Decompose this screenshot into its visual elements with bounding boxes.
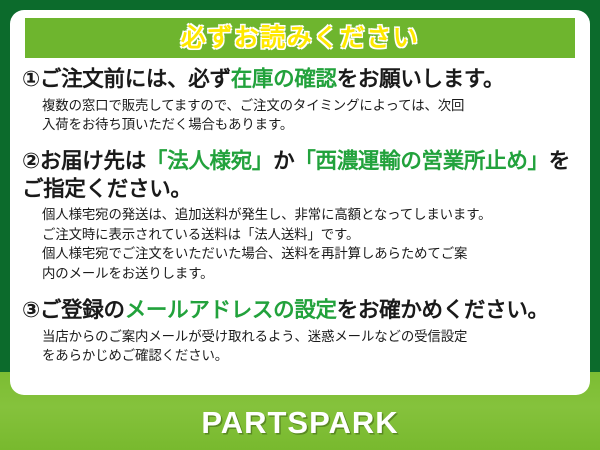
notice-item-3-heading: ③ご登録のメールアドレスの設定をお確かめください。 bbox=[22, 297, 580, 325]
notice-item-1-heading-accent: 在庫の確認 bbox=[231, 67, 337, 91]
notice-item-3-heading-pre: ご登録の bbox=[40, 298, 125, 322]
notice-item-3-heading-accent: メールアドレスの設定 bbox=[125, 298, 337, 322]
notice-item-3-number: ③ bbox=[22, 298, 40, 322]
title-banner-text: 必ずお読みください bbox=[181, 26, 420, 51]
footer-brand-text: PARTSPARK bbox=[201, 407, 398, 438]
notice-item-3-heading-post: をお確かめください。 bbox=[337, 298, 549, 322]
notice-item-1-heading: ①ご注文前には、必ず在庫の確認をお願いします。 bbox=[22, 66, 580, 94]
notice-item-2: ②お届け先は「法人様宛」か「西濃運輸の営業所止め」をご指定ください。 個人様宅宛… bbox=[10, 148, 590, 283]
notice-item-1: ①ご注文前には、必ず在庫の確認をお願いします。 複数の窓口で販売してますので、ご… bbox=[10, 66, 590, 134]
content-panel: 必ずお読みください ①ご注文前には、必ず在庫の確認をお願いします。 複数の窓口で… bbox=[10, 10, 590, 395]
notice-item-3: ③ご登録のメールアドレスの設定をお確かめください。 当店からのご案内メールが受け… bbox=[10, 297, 590, 365]
notice-item-3-body: 当店からのご案内メールが受け取れるよう、迷惑メールなどの受信設定 をあらかじめご… bbox=[42, 327, 580, 366]
footer-brand: PARTSPARK bbox=[0, 395, 600, 450]
notice-item-2-heading-mid: か bbox=[273, 149, 294, 173]
notice-items-list: ①ご注文前には、必ず在庫の確認をお願いします。 複数の窓口で販売してますので、ご… bbox=[10, 66, 590, 366]
notice-item-2-body: 個人様宅宛の発送は、追加送料が発生し、非常に高額となってしまいます。 ご注文時に… bbox=[42, 205, 580, 283]
notice-item-1-body: 複数の窓口で販売してますので、ご注文のタイミングによっては、次回 入荷をお待ち頂… bbox=[42, 96, 580, 135]
notice-item-2-number: ② bbox=[22, 149, 40, 173]
notice-item-2-heading-accent: 「法人様宛」 bbox=[146, 149, 273, 173]
notice-item-2-heading: ②お届け先は「法人様宛」か「西濃運輸の営業所止め」をご指定ください。 bbox=[22, 148, 580, 203]
notice-item-2-heading-pre: お届け先は bbox=[40, 149, 146, 173]
title-banner: 必ずお読みください bbox=[25, 18, 575, 58]
notice-item-2-heading-accent2: 「西濃運輸の営業所止め」 bbox=[294, 149, 548, 173]
notice-item-1-heading-pre: ご注文前には、必ず bbox=[40, 67, 231, 91]
notice-card: 必ずお読みください ①ご注文前には、必ず在庫の確認をお願いします。 複数の窓口で… bbox=[0, 0, 600, 450]
notice-item-1-number: ① bbox=[22, 67, 40, 91]
notice-item-1-heading-post: をお願いします。 bbox=[337, 67, 504, 91]
